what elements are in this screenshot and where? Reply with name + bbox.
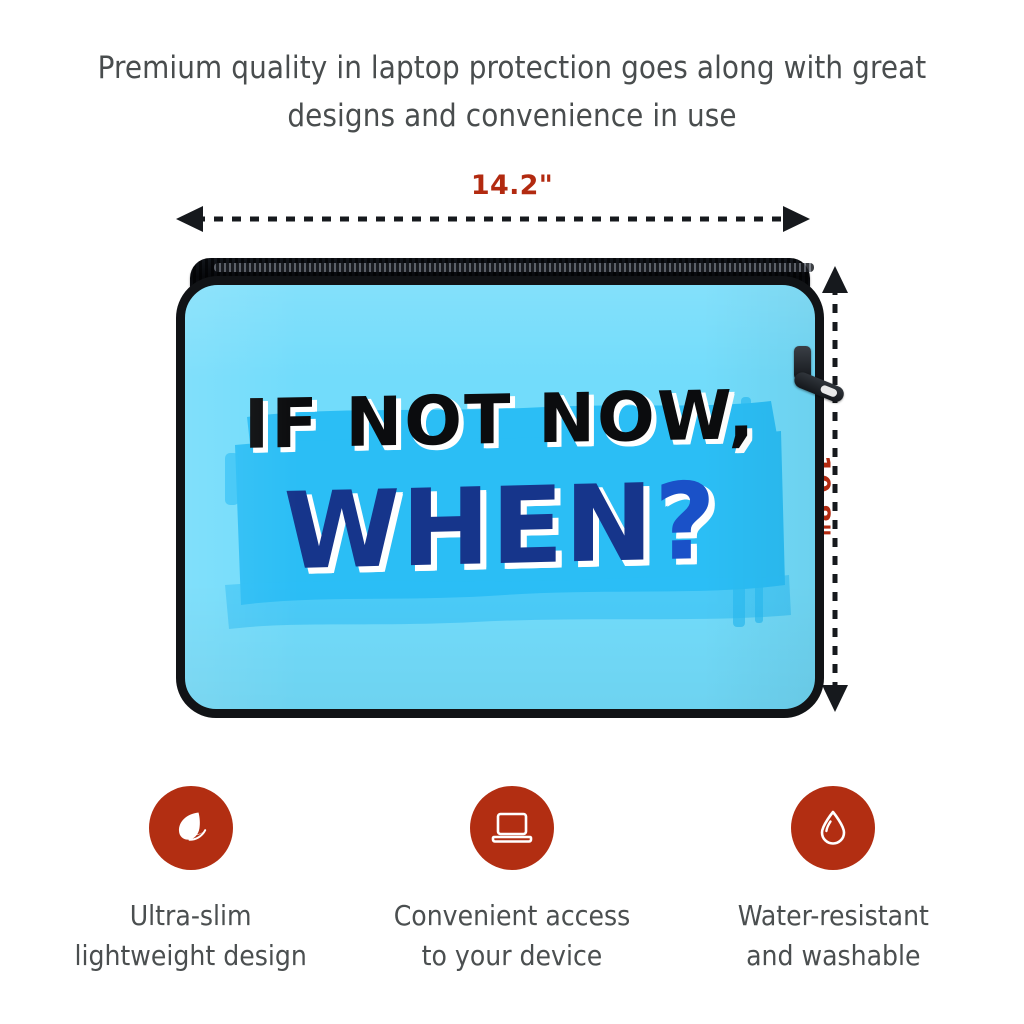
feature-caption-line-2: lightweight design [74,939,306,972]
zipper-teeth [214,263,814,272]
feature-item-convenient-access: Convenient access to your device [357,786,667,976]
feature-icon-badge [791,786,875,870]
feature-caption-line-1: Ultra-slim [130,899,252,932]
infographic-canvas: Premium quality in laptop protection goe… [0,0,1024,1024]
feather-icon [168,805,214,851]
feature-caption: Ultra-slim lightweight design [74,896,306,976]
sleeve-shading [185,285,815,709]
laptop-sleeve-product: IF NOT NOW, WHEN? [176,258,824,718]
feature-icon-badge [470,786,554,870]
feature-item-ultra-slim: Ultra-slim lightweight design [36,786,346,976]
droplet-icon [810,805,856,851]
page-title: Premium quality in laptop protection goe… [50,44,974,140]
feature-caption-line-2: and washable [746,939,920,972]
laptop-icon [488,804,536,852]
feature-caption: Convenient access to your device [394,896,631,976]
feature-item-water-resistant: Water-resistant and washable [678,786,988,976]
feature-caption-line-1: Water-resistant [738,899,929,932]
feature-caption-line-1: Convenient access [394,899,631,932]
sleeve-body: IF NOT NOW, WHEN? [176,276,824,718]
feature-icon-badge [149,786,233,870]
feature-list: Ultra-slim lightweight design Convenient… [30,786,994,1006]
feature-caption-line-2: to your device [422,939,603,972]
feature-caption: Water-resistant and washable [738,896,929,976]
width-dimension-label: 14.2" [402,170,622,201]
